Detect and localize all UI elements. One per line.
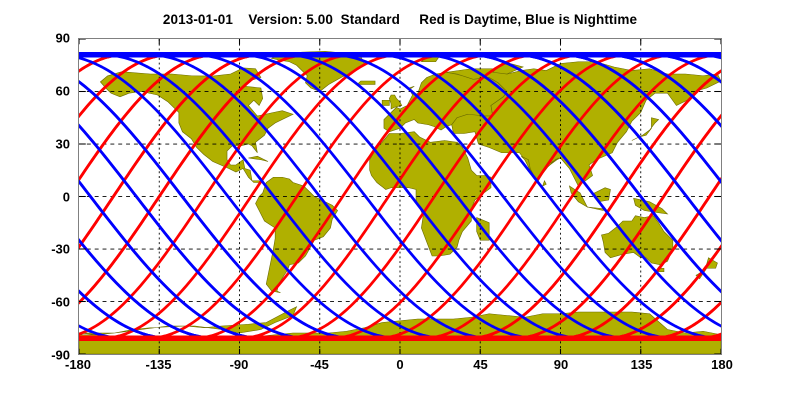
x-axis-tick-label: -90 <box>230 357 249 372</box>
x-axis-tick-label: 135 <box>631 357 653 372</box>
x-axis-tick-label: 180 <box>711 357 733 372</box>
x-axis-tick-label: -135 <box>145 357 171 372</box>
figure-root: 2013-01-01 Version: 5.00 Standard Red is… <box>0 0 800 400</box>
y-axis-tick-label: 0 <box>4 189 70 204</box>
y-axis-tick-label: -60 <box>4 295 70 310</box>
x-axis-tick-label: 0 <box>396 357 403 372</box>
axis-labels-host: -90-60-300306090 -180-135-90-45045901351… <box>0 0 800 400</box>
y-axis-tick-label: 90 <box>4 31 70 46</box>
y-axis-tick-label: -30 <box>4 242 70 257</box>
x-axis-tick-label: -180 <box>65 357 91 372</box>
x-axis-tick-label: 90 <box>554 357 568 372</box>
y-axis-tick-label: 30 <box>4 136 70 151</box>
y-axis-tick-label: -90 <box>4 348 70 363</box>
x-axis-tick-label: -45 <box>310 357 329 372</box>
x-axis-tick-label: 45 <box>473 357 487 372</box>
y-axis-tick-label: 60 <box>4 83 70 98</box>
